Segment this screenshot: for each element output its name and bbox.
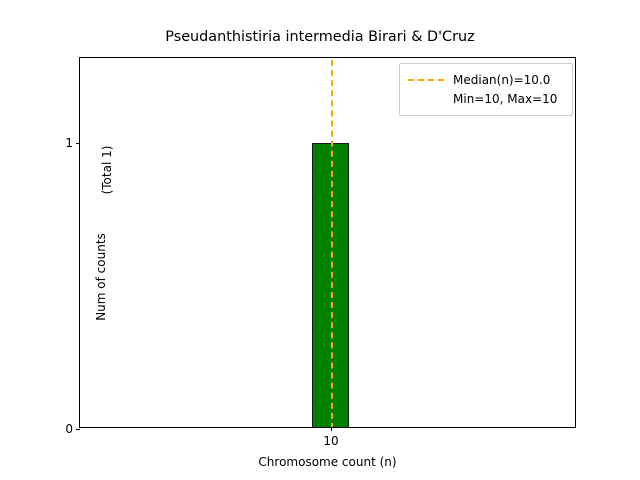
y-tick-0 bbox=[76, 429, 80, 430]
legend: Median(n)=10.0 Min=10, Max=10 bbox=[399, 63, 573, 116]
x-axis-label: Chromosome count (n) bbox=[79, 455, 576, 469]
y-axis-label-total: (Total 1) bbox=[100, 110, 114, 230]
x-tick-10 bbox=[331, 427, 332, 431]
matplotlib-figure: Pseudanthistiria intermedia Birari & D'C… bbox=[0, 0, 640, 480]
dashed-line-icon bbox=[408, 79, 444, 81]
y-axis-label: Num of counts bbox=[94, 212, 108, 342]
y-tick-1 bbox=[76, 143, 80, 144]
y-ticklabel-1: 1 bbox=[65, 136, 73, 150]
legend-label-minmax: Min=10, Max=10 bbox=[453, 92, 557, 106]
y-ticklabel-0: 0 bbox=[65, 422, 73, 436]
legend-label-median: Median(n)=10.0 bbox=[453, 73, 550, 87]
legend-entry-minmax: Min=10, Max=10 bbox=[408, 89, 564, 108]
legend-entry-median: Median(n)=10.0 bbox=[408, 70, 564, 89]
blank-swatch-icon bbox=[408, 98, 444, 100]
median-line bbox=[331, 60, 333, 427]
chart-title: Pseudanthistiria intermedia Birari & D'C… bbox=[0, 29, 640, 45]
plot-axes: 0 1 10 Num of counts (Total 1) Median(n)… bbox=[79, 57, 576, 428]
x-ticklabel-10: 10 bbox=[323, 434, 338, 448]
